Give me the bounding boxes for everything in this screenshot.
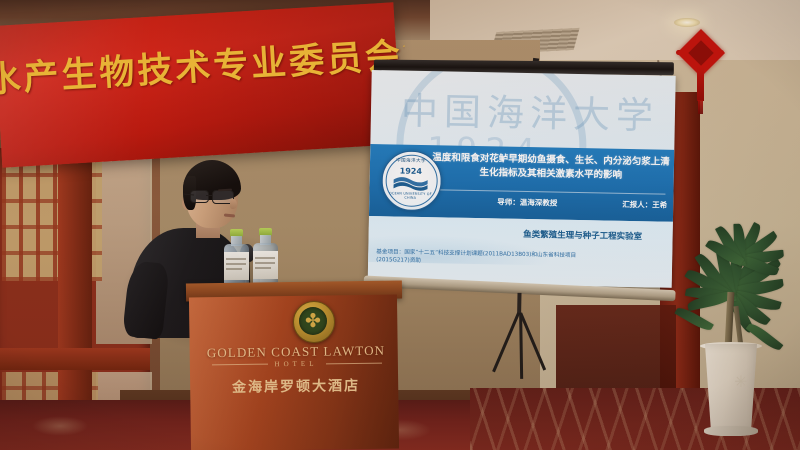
pot-star-motif-icon: ✳ bbox=[732, 374, 750, 392]
glasses-lens-left-icon bbox=[190, 190, 209, 203]
plant-pot-base bbox=[704, 426, 758, 436]
glasses-bridge-icon bbox=[206, 195, 213, 196]
ceiling-lamp-icon bbox=[674, 18, 700, 27]
bottle-label-line bbox=[255, 257, 275, 259]
ouc-logo-wave-icon bbox=[391, 176, 429, 192]
knot-tassel-end bbox=[698, 100, 703, 114]
bottle-label-line bbox=[226, 263, 246, 265]
ouc-logo-year: 1924 bbox=[386, 166, 436, 176]
speaker-nose bbox=[230, 199, 237, 209]
screen-surface: 中国海洋大学 1924 温度和限食对花鲈早期幼鱼摄食、生长、内分泌匀浆上清生化指… bbox=[368, 70, 676, 288]
conference-photo-scene: 水产生物技术专业委员会第八届 中国海洋大学 1924 温度和限食对花鲈早期幼鱼摄… bbox=[0, 0, 800, 450]
plant-trunk bbox=[725, 292, 735, 348]
bottle-label-line bbox=[255, 267, 271, 269]
bottle-label-left bbox=[224, 252, 249, 280]
bottle-label-line bbox=[226, 258, 246, 260]
hotel-name-cn: 金海岸罗顿大酒店 bbox=[200, 375, 392, 398]
bottle-label-right bbox=[253, 251, 278, 279]
slide-title: 温度和限食对花鲈早期幼鱼摄食、生长、内分泌匀浆上清生化指标及其相关激素水平的影响 bbox=[432, 151, 670, 183]
bottle-label-line bbox=[255, 262, 275, 264]
bottle-label-line bbox=[226, 268, 242, 270]
hotel-emblem-knot-icon: ✤ bbox=[303, 311, 323, 331]
presentation-slide: 中国海洋大学 1924 温度和限食对花鲈早期幼鱼摄食、生长、内分泌匀浆上清生化指… bbox=[368, 70, 676, 288]
slide-advisor: 导师：温海深教授 bbox=[497, 196, 557, 208]
projection-screen: 中国海洋大学 1924 温度和限食对花鲈早期幼鱼摄食、生长、内分泌匀浆上清生化指… bbox=[367, 58, 692, 324]
knot-tassel bbox=[697, 67, 704, 101]
ouc-logo-cn-name: 中国海洋大学 bbox=[386, 157, 436, 164]
potted-plant: ✳ bbox=[648, 196, 800, 450]
ouc-logo-en-name: OCEAN UNIVERSITY OF CHINA bbox=[383, 191, 437, 200]
plant-pot bbox=[700, 344, 762, 434]
